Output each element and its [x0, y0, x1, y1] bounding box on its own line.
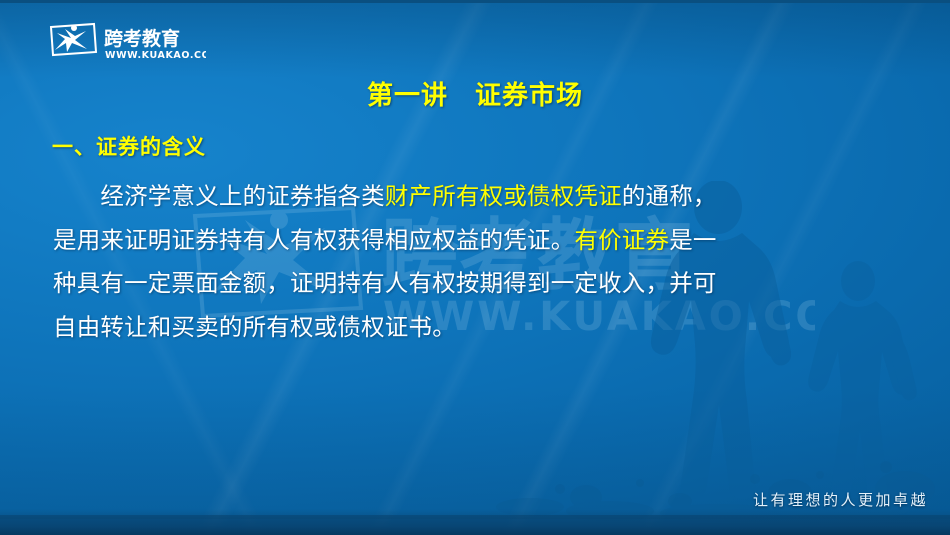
logo-brand-url: WWW.KUAKAO.COM [105, 50, 206, 61]
body-line-4: 自由转让和买卖的所有权或债权证书。 [53, 306, 913, 350]
body-line-2: 是用来证明证券持有人有权获得相应权益的凭证。有价证券是一 [53, 219, 913, 263]
bottom-band [0, 515, 950, 535]
body-line-2-highlight: 有价证券 [574, 226, 669, 254]
body-line-2-part-b: 是一 [669, 226, 716, 254]
body-line-2-part-a: 是用来证明证券持有人有权获得相应权益的凭证。 [53, 226, 574, 254]
body-text: 经济学意义上的证券指各类财产所有权或债权凭证的通称， 是用来证明证券持有人有权获… [53, 175, 913, 349]
page-title: 第一讲 证券市场 [0, 75, 950, 112]
body-line-1-highlight: 财产所有权或债权凭证 [385, 182, 622, 210]
section-heading: 一、证券的含义 [52, 131, 206, 161]
body-line-3: 种具有一定票面金额，证明持有人有权按期得到一定收入，并可 [53, 262, 913, 306]
body-line-1: 经济学意义上的证券指各类财产所有权或债权凭证的通称， [53, 175, 913, 219]
tagline: 让有理想的人更加卓越 [753, 489, 928, 510]
body-line-1-part-a: 经济学意义上的证券指各类 [53, 182, 385, 210]
body-line-1-part-b: 的通称， [622, 182, 717, 210]
presentation-slide: 跨考教育 WWW.KUAKAO.COM [0, 0, 950, 535]
logo-brand-cn: 跨考教育 [104, 27, 180, 50]
kuakao-logo[interactable]: 跨考教育 WWW.KUAKAO.COM [48, 22, 206, 62]
kuakao-star-mark [51, 24, 96, 55]
